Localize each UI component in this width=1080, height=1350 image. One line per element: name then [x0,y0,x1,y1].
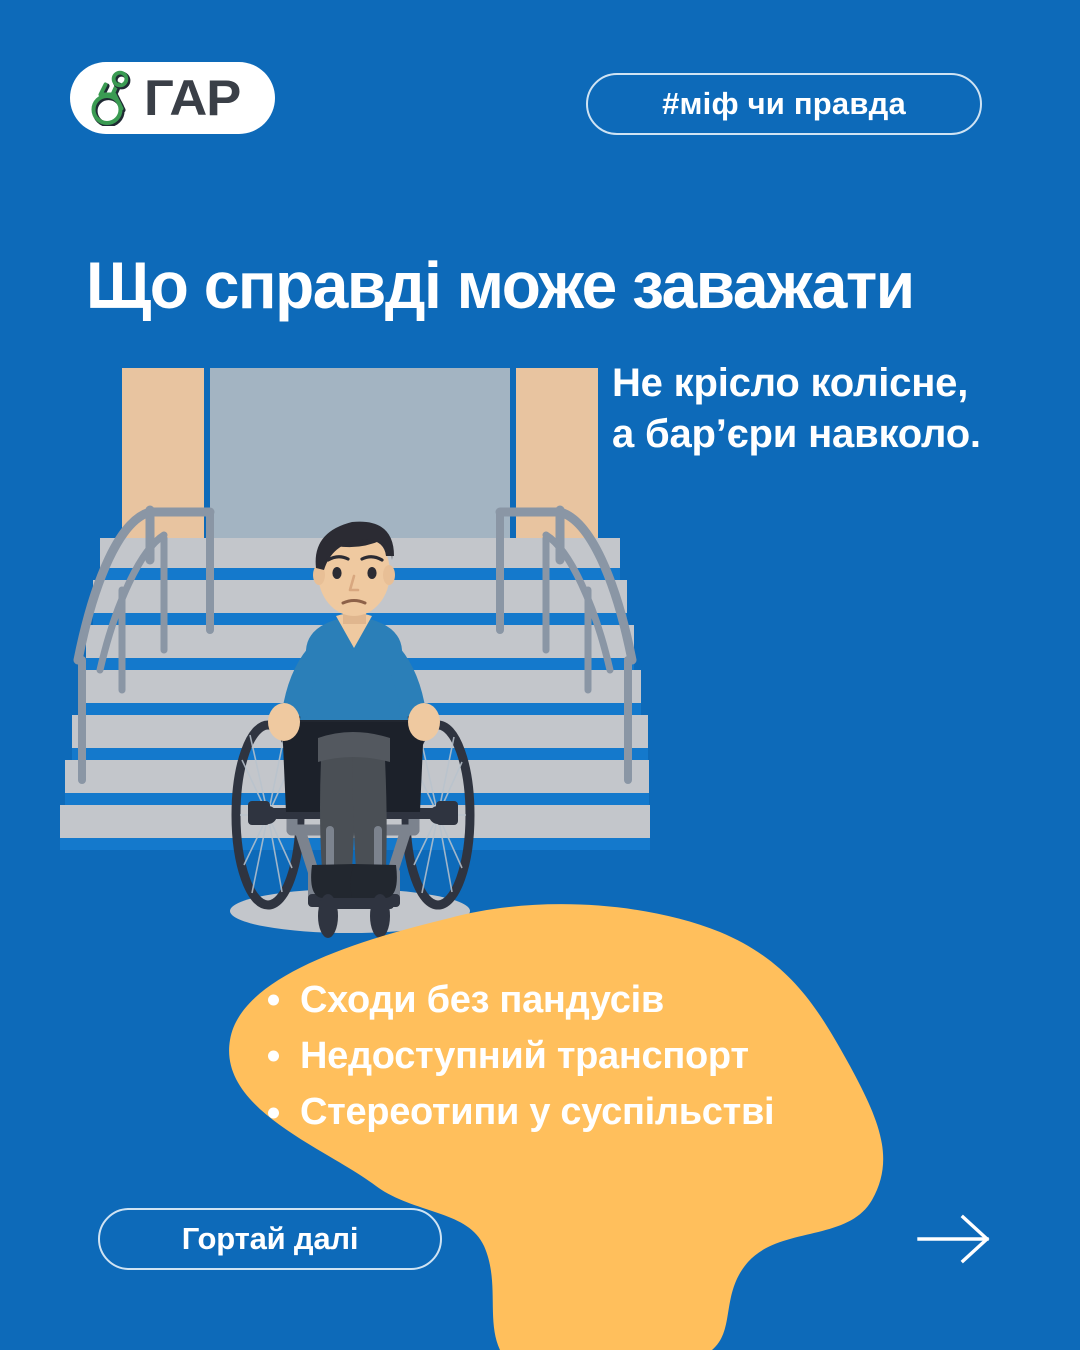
list-item: Недоступний транспорт [258,1028,918,1084]
list-item: Сходи без пандусів [258,972,918,1028]
subheadline: Не крісло колісне, а бар’єри навколо. [612,358,1032,460]
barrier-list: Сходи без пандусів Недоступний транспорт… [258,972,918,1141]
subheadline-line-2: а бар’єри навколо. [612,409,1032,460]
swipe-next-button[interactable]: Гортай далі [98,1208,442,1270]
swipe-next-label: Гортай далі [182,1221,359,1257]
subheadline-line-1: Не крісло колісне, [612,358,1032,409]
arrow-right-icon[interactable] [905,1205,1005,1273]
wheelchair-accessibility-icon [84,70,140,126]
list-item-label: Стереотипи у суспільстві [300,1091,774,1133]
list-item-label: Недоступний транспорт [300,1035,749,1077]
brand-logo[interactable]: ГАР [70,62,275,134]
page-title: Що справді може заважати [86,252,978,319]
list-item: Стереотипи у суспільстві [258,1084,918,1140]
hashtag-badge[interactable]: #міф чи правда [586,73,982,135]
stairs-wheelchair-illustration [60,360,650,945]
hashtag-badge-label: #міф чи правда [662,86,906,122]
brand-wordmark: ГАР [144,73,240,123]
poster-canvas: ГАР #міф чи правда Що справді може заваж… [0,0,1080,1350]
list-item-label: Сходи без пандусів [300,979,664,1021]
